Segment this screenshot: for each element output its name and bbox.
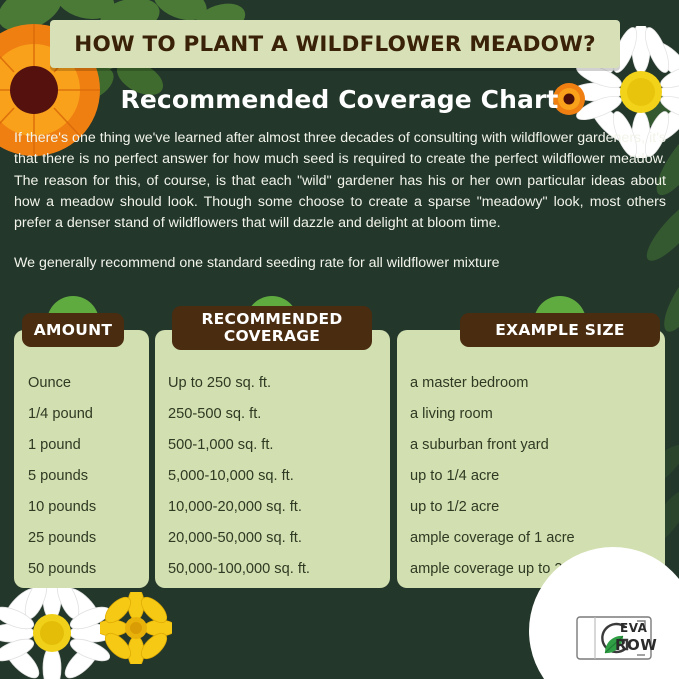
column-cells-amount: Ounce 1/4 pound 1 pound 5 pounds 10 poun… [28, 368, 96, 585]
yellow-flower-bottom-left [100, 592, 172, 664]
table-cell: Ounce [28, 368, 96, 399]
coverage-chart: AMOUNT RECOMMENDED COVERAGE EXAMPLE SIZE… [0, 296, 679, 596]
table-cell: 10,000-20,000 sq. ft. [168, 492, 310, 523]
table-cell: ample coverage of 1 acre [410, 523, 602, 554]
title-banner: HOW TO PLANT A WILDFLOWER MEADOW? [50, 20, 620, 68]
table-cell: 25 pounds [28, 523, 96, 554]
logo-text-grow: ROW [615, 636, 657, 654]
table-cell: 50 pounds [28, 554, 96, 585]
table-cell: 10 pounds [28, 492, 96, 523]
page-title: HOW TO PLANT A WILDFLOWER MEADOW? [74, 32, 596, 57]
column-header-example: EXAMPLE SIZE [460, 313, 660, 347]
table-cell: 1/4 pound [28, 399, 96, 430]
table-cell: 250-500 sq. ft. [168, 399, 310, 430]
table-cell: Up to 250 sq. ft. [168, 368, 310, 399]
table-cell: a master bedroom [410, 368, 602, 399]
column-cells-coverage: Up to 250 sq. ft. 250-500 sq. ft. 500-1,… [168, 368, 310, 585]
table-cell: 500-1,000 sq. ft. [168, 430, 310, 461]
table-cell: 5,000-10,000 sq. ft. [168, 461, 310, 492]
column-header-coverage: RECOMMENDED COVERAGE [172, 306, 372, 350]
table-cell: 5 pounds [28, 461, 96, 492]
infographic-poster: HOW TO PLANT A WILDFLOWER MEADOW? Recomm… [0, 0, 679, 679]
page-subtitle: Recommended Coverage Chart [121, 85, 559, 114]
seeding-rate-note: We generally recommend one standard seed… [14, 253, 666, 274]
subtitle-row: Recommended Coverage Chart [0, 78, 679, 120]
table-cell: up to 1/2 acre [410, 492, 602, 523]
logo-text-eva: EVA [620, 621, 647, 635]
table-cell: 1 pound [28, 430, 96, 461]
table-cell: 50,000-100,000 sq. ft. [168, 554, 310, 585]
table-cell: up to 1/4 acre [410, 461, 602, 492]
table-cell: a living room [410, 399, 602, 430]
table-cell: a suburban front yard [410, 430, 602, 461]
intro-paragraph: If there's one thing we've learned after… [14, 128, 666, 234]
column-cells-example: a master bedroom a living room a suburba… [410, 368, 602, 585]
eva-grow-logo: EVA ROW [575, 613, 665, 665]
column-header-amount: AMOUNT [22, 313, 124, 347]
table-cell: 20,000-50,000 sq. ft. [168, 523, 310, 554]
